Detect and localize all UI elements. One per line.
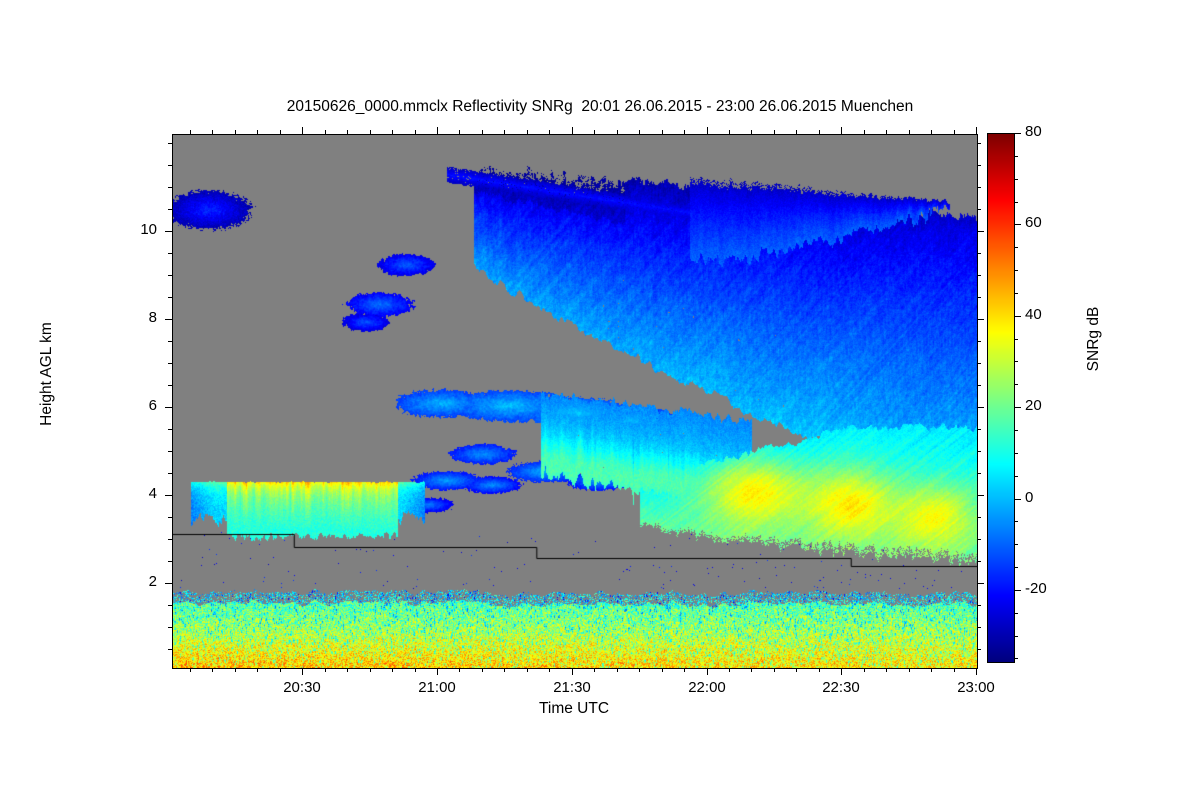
x-tick-minor-top [662,130,663,134]
colorbar-tick-minor [1015,430,1018,431]
colorbar-tick-minor [1015,658,1018,659]
x-tick-minor-top [796,130,797,134]
x-tick-minor-top [527,130,528,134]
x-tick-minor [459,668,460,672]
x-tick-major-top [841,127,842,134]
colorbar-tick-major [1015,133,1021,134]
plot-area[interactable] [172,134,978,669]
y-tick-major [165,495,172,496]
y-tick-minor [168,517,172,518]
x-tick-minor-top [617,130,618,134]
x-tick-major [841,668,842,675]
x-tick-minor-top [392,130,393,134]
y-tick-minor [168,297,172,298]
colorbar-tick-minor [1015,270,1018,271]
y-tick-minor-right [977,385,981,386]
colorbar-tick-minor [1015,179,1018,180]
colorbar-tick-major [1015,316,1021,317]
colorbar-tick-label: 60 [1025,214,1042,231]
x-tick-minor-top [459,130,460,134]
y-tick-minor-right [977,473,981,474]
y-tick-major-right [977,583,984,584]
x-tick-major-top [437,127,438,134]
y-tick-minor-right [977,649,981,650]
x-tick-minor-top [415,130,416,134]
y-tick-minor-right [977,605,981,606]
y-tick-major [165,319,172,320]
x-tick-label: 20:30 [267,679,337,696]
x-tick-minor-top [549,130,550,134]
x-tick-minor [325,668,326,672]
figure-canvas: 20150626_0000.mmclx Reflectivity SNRg 20… [0,0,1200,800]
y-tick-minor [168,275,172,276]
y-tick-minor [168,429,172,430]
x-tick-minor [504,668,505,672]
y-tick-major-right [977,319,984,320]
y-tick-minor [168,341,172,342]
colorbar-tick-minor [1015,544,1018,545]
y-tick-minor-right [977,561,981,562]
colorbar-tick-major [1015,224,1021,225]
y-tick-minor-right [977,297,981,298]
colorbar[interactable] [987,133,1015,663]
y-tick-minor-right [977,517,981,518]
colorbar-tick-minor [1015,361,1018,362]
y-tick-minor-right [977,539,981,540]
x-tick-minor [774,668,775,672]
x-tick-minor-top [684,130,685,134]
x-tick-minor [729,668,730,672]
x-tick-minor [864,668,865,672]
colorbar-tick-minor [1015,156,1018,157]
colorbar-tick-major [1015,407,1021,408]
colorbar-gradient [987,133,1015,663]
colorbar-tick-minor [1015,339,1018,340]
x-tick-minor [415,668,416,672]
colorbar-tick-minor [1015,476,1018,477]
x-tick-label: 21:00 [402,679,472,696]
y-axis-label: Height AGL km [38,274,56,474]
x-tick-label: 21:30 [537,679,607,696]
x-tick-label: 23:00 [941,679,1011,696]
y-tick-minor-right [977,253,981,254]
colorbar-tick-minor [1015,293,1018,294]
y-tick-minor [168,187,172,188]
x-tick-minor [212,668,213,672]
y-tick-minor [168,627,172,628]
x-tick-major [707,668,708,675]
colorbar-tick-label: 20 [1025,397,1042,414]
x-tick-minor [235,668,236,672]
y-tick-label: 6 [117,397,157,414]
y-tick-minor-right [977,429,981,430]
x-tick-minor [347,668,348,672]
colorbar-tick-minor [1015,453,1018,454]
y-tick-minor [168,451,172,452]
y-tick-major-right [977,231,984,232]
x-tick-minor [684,668,685,672]
x-tick-minor-top [819,130,820,134]
y-tick-minor [168,385,172,386]
colorbar-tick-major [1015,499,1021,500]
y-tick-minor [168,143,172,144]
colorbar-tick-major [1015,590,1021,591]
x-tick-major-top [572,127,573,134]
x-tick-minor-top [280,130,281,134]
x-tick-minor-top [504,130,505,134]
x-tick-major [437,668,438,675]
x-tick-major [572,668,573,675]
colorbar-tick-minor [1015,384,1018,385]
y-tick-major [165,231,172,232]
colorbar-tick-minor [1015,636,1018,637]
x-tick-minor-top [212,130,213,134]
x-tick-label: 22:30 [806,679,876,696]
y-tick-minor-right [977,187,981,188]
x-tick-label: 22:00 [672,679,742,696]
x-tick-minor [931,668,932,672]
x-tick-minor [617,668,618,672]
x-tick-minor [370,668,371,672]
x-tick-minor [751,668,752,672]
x-tick-minor [549,668,550,672]
y-tick-minor [168,363,172,364]
x-tick-minor-top [751,130,752,134]
x-tick-minor [886,668,887,672]
x-tick-minor-top [370,130,371,134]
y-tick-major-right [977,407,984,408]
x-tick-minor-top [864,130,865,134]
colorbar-tick-minor [1015,613,1018,614]
x-tick-minor-top [347,130,348,134]
x-tick-major-top [302,127,303,134]
x-tick-minor [954,668,955,672]
colorbar-tick-label: 80 [1025,123,1042,140]
x-tick-minor-top [954,130,955,134]
x-tick-minor [819,668,820,672]
y-tick-major [165,407,172,408]
x-tick-minor-top [639,130,640,134]
y-tick-label: 10 [117,221,157,238]
y-tick-minor-right [977,143,981,144]
y-tick-minor-right [977,627,981,628]
x-tick-minor [662,668,663,672]
x-tick-minor [796,668,797,672]
x-tick-major [976,668,977,675]
y-tick-minor [168,561,172,562]
page-title: 20150626_0000.mmclx Reflectivity SNRg 20… [0,98,1200,116]
x-tick-minor-top [729,130,730,134]
x-tick-minor [257,668,258,672]
x-axis-label: Time UTC [172,700,976,718]
y-tick-minor-right [977,341,981,342]
x-tick-minor-top [886,130,887,134]
colorbar-label: SNRg dB [1085,249,1103,429]
y-tick-minor [168,649,172,650]
colorbar-tick-minor [1015,247,1018,248]
x-tick-minor-top [235,130,236,134]
x-tick-minor-top [909,130,910,134]
y-tick-minor-right [977,209,981,210]
x-tick-minor-top [257,130,258,134]
x-tick-major-top [707,127,708,134]
y-tick-minor-right [977,165,981,166]
y-tick-minor [168,165,172,166]
x-tick-minor [482,668,483,672]
y-tick-minor [168,253,172,254]
y-tick-label: 2 [117,573,157,590]
y-tick-major [165,583,172,584]
x-tick-minor [527,668,528,672]
x-tick-minor-top [931,130,932,134]
colorbar-tick-label: -20 [1025,580,1047,597]
reflectivity-heatmap [173,135,977,668]
y-tick-minor [168,473,172,474]
y-tick-minor [168,209,172,210]
colorbar-tick-minor [1015,521,1018,522]
y-tick-minor-right [977,275,981,276]
y-tick-minor [168,539,172,540]
x-tick-minor-top [325,130,326,134]
x-tick-major [302,668,303,675]
x-tick-minor [594,668,595,672]
y-tick-minor-right [977,363,981,364]
y-tick-major-right [977,495,984,496]
x-tick-minor [639,668,640,672]
x-tick-minor [190,668,191,672]
x-tick-minor-top [482,130,483,134]
x-tick-minor-top [774,130,775,134]
colorbar-tick-minor [1015,567,1018,568]
x-tick-major-top [976,127,977,134]
x-tick-minor [392,668,393,672]
colorbar-tick-label: 40 [1025,306,1042,323]
y-tick-minor [168,605,172,606]
y-tick-label: 4 [117,485,157,502]
x-tick-minor [280,668,281,672]
y-tick-minor-right [977,451,981,452]
x-tick-minor-top [190,130,191,134]
colorbar-tick-label: 0 [1025,489,1033,506]
x-tick-minor-top [594,130,595,134]
x-tick-minor [909,668,910,672]
colorbar-tick-minor [1015,202,1018,203]
y-tick-label: 8 [117,309,157,326]
